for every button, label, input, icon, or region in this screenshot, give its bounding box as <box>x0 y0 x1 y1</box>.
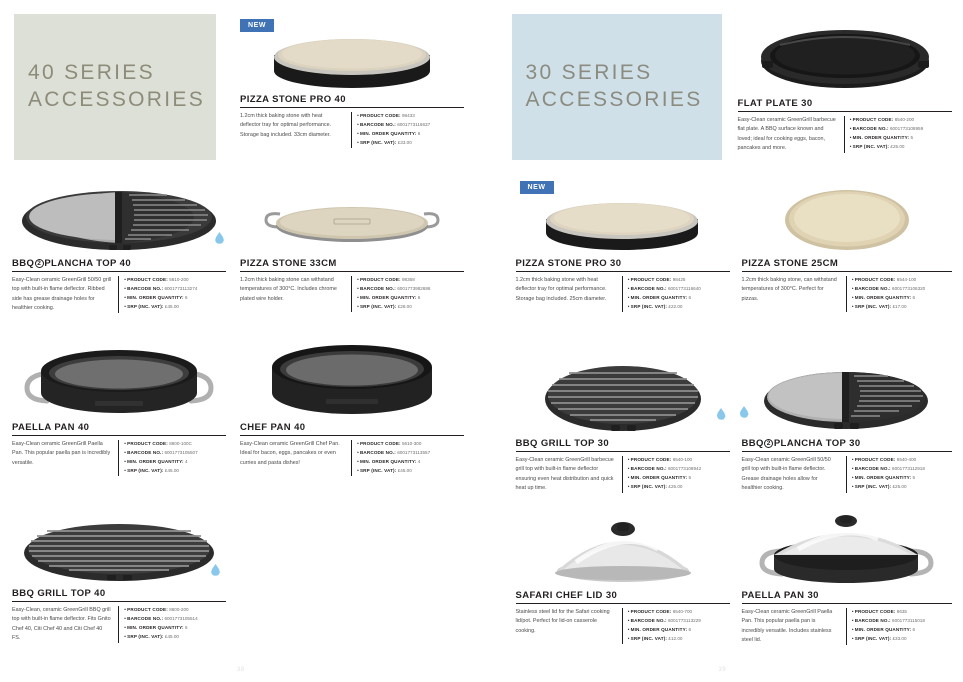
spec-label-barcode: BARCODE NO.: <box>631 618 667 623</box>
spec-label-moq: MIN. ORDER QUANTITY: <box>360 131 417 136</box>
product-title-post: PLANCHA TOP 40 <box>44 258 131 269</box>
spec-label-barcode: BARCODE NO.: <box>631 466 667 471</box>
spec-value-code: 6540-200 <box>895 117 914 122</box>
page-number-left: 38 <box>0 667 482 673</box>
spec-label-code: PRODUCT CODE: <box>853 117 894 122</box>
product-card-pizza-stone-pro-30[interactable]: NEW PIZZA STONE PRO 30 1.2cm thick bakin… <box>512 176 734 312</box>
product-description: Easy-Clean ceramic GreenGrill 50/50 gril… <box>742 456 839 493</box>
spec-label-code: PRODUCT CODE: <box>360 441 401 446</box>
spec-label-code: PRODUCT CODE: <box>631 277 672 282</box>
product-title: BBQ2PLANCHA TOP 30 <box>742 438 952 451</box>
product-specs: • PRODUCT CODE: 6540-100 • BARCODE NO.: … <box>622 456 730 493</box>
spec-value-srp: £28.00 <box>398 304 412 309</box>
spec-value-moq: 6 <box>418 295 421 300</box>
product-image-bbq-grill-top-30 <box>512 352 734 438</box>
spec-label-code: PRODUCT CODE: <box>631 457 672 462</box>
hero-title-line1: 40 SERIES <box>28 60 155 87</box>
product-description: Easy-Clean ceramic GreenGrill barbecue f… <box>738 116 837 153</box>
catalog-page-right: 30 SERIES ACCESSORIES FLAT PLATE 30 <box>482 0 963 682</box>
droplet-icon <box>740 406 749 418</box>
product-specs: • PRODUCT CODE: 5610-300 • BARCODE NO.: … <box>351 440 464 476</box>
spec-value-srp: £25.00 <box>892 484 906 489</box>
spec-value-moq: 5 <box>910 135 913 140</box>
product-title: PIZZA STONE 33CM <box>240 258 464 271</box>
spec-label-code: PRODUCT CODE: <box>855 457 896 462</box>
spec-label-moq: MIN. ORDER QUANTITY: <box>631 295 688 300</box>
hero-banner-30-series: 30 SERIES ACCESSORIES <box>512 14 722 160</box>
spec-label-barcode: BARCODE NO.: <box>853 126 889 131</box>
product-specs: • PRODUCT CODE: 6540-200 • BARCODE NO.: … <box>844 116 952 153</box>
spec-value-moq: 6 <box>688 295 691 300</box>
spec-label-code: PRODUCT CODE: <box>855 609 896 614</box>
spec-label-moq: MIN. ORDER QUANTITY: <box>631 627 688 632</box>
product-title: PIZZA STONE 25CM <box>742 258 952 271</box>
product-specs: • PRODUCT CODE: 98433 • BARCODE NO.: 600… <box>351 112 464 148</box>
spec-label-srp: SRP (INC. VAT): <box>127 634 163 639</box>
spec-value-code: 6540-700 <box>673 609 692 614</box>
spec-label-barcode: BARCODE NO.: <box>127 286 163 291</box>
spec-value-barcode: 6001773115018 <box>892 618 925 623</box>
spec-label-srp: SRP (INC. VAT): <box>853 144 889 149</box>
product-description: Stainless steel lid for the Safari cooki… <box>516 608 615 644</box>
circled-two-icon: 2 <box>35 259 44 268</box>
product-card-bbq-grill-top-40[interactable]: BBQ GRILL TOP 40 Easy-Clean, ceramic Gre… <box>8 508 230 643</box>
product-title: PAELLA PAN 40 <box>12 422 226 435</box>
spec-label-moq: MIN. ORDER QUANTITY: <box>855 475 912 480</box>
spec-label-srp: SRP (INC. VAT): <box>360 468 396 473</box>
spec-label-barcode: BARCODE NO.: <box>360 450 396 455</box>
circled-two-icon: 2 <box>764 439 773 448</box>
spec-label-srp: SRP (INC. VAT): <box>855 636 891 641</box>
product-image-paella-pan-30 <box>738 506 956 590</box>
spec-value-code: 6540-400 <box>897 457 916 462</box>
product-description: Easy-Clean ceramic GreenGrill 50/50 gril… <box>12 276 111 313</box>
product-card-pizza-stone-pro-40[interactable]: NEW PIZZA STONE PRO 40 1.2cm thick bakin… <box>236 14 468 148</box>
spec-label-barcode: BARCODE NO.: <box>855 466 891 471</box>
product-image-pizza-stone-33 <box>236 176 468 258</box>
spec-label-moq: MIN. ORDER QUANTITY: <box>853 135 910 140</box>
spec-value-barcode: 6001773116637 <box>397 122 430 127</box>
spec-value-code: 5610-200 <box>169 277 188 282</box>
product-card-chef-pan-40[interactable]: CHEF PAN 40 Easy-Clean ceramic GreenGril… <box>236 342 468 476</box>
spec-value-moq: 4 <box>418 459 421 464</box>
spec-value-moq: 6 <box>688 627 691 632</box>
spec-value-barcode: 6001773113229 <box>668 618 701 623</box>
product-title-pre: BBQ <box>742 438 764 449</box>
spec-value-code: 5610-300 <box>402 441 421 446</box>
product-image-flat-plate-30 <box>734 14 956 98</box>
spec-label-barcode: BARCODE NO.: <box>360 286 396 291</box>
spec-value-barcode: 6001773112918 <box>892 466 925 471</box>
spec-label-code: PRODUCT CODE: <box>127 441 168 446</box>
spec-label-srp: SRP (INC. VAT): <box>855 484 891 489</box>
spec-value-moq: 4 <box>185 459 188 464</box>
spec-label-barcode: BARCODE NO.: <box>127 616 163 621</box>
spec-value-code: 98425 <box>673 277 686 282</box>
spec-label-barcode: BARCODE NO.: <box>631 286 667 291</box>
spec-value-moq: 5 <box>688 475 691 480</box>
spec-value-code: 6540-100 <box>673 457 692 462</box>
product-title: BBQ GRILL TOP 30 <box>516 438 730 451</box>
spec-label-moq: MIN. ORDER QUANTITY: <box>855 295 912 300</box>
spec-label-srp: SRP (INC. VAT): <box>127 468 163 473</box>
spec-label-moq: MIN. ORDER QUANTITY: <box>631 475 688 480</box>
product-description: Easy-Clean ceramic GreenGrill barbecue g… <box>516 456 615 493</box>
spec-value-barcode: 6001773106320 <box>892 286 925 291</box>
product-image-chef-pan-40 <box>236 342 468 422</box>
product-specs: • PRODUCT CODE: 6540-700 • BARCODE NO.: … <box>622 608 730 644</box>
product-specs: • PRODUCT CODE: 6540-400 • BARCODE NO.: … <box>846 456 952 493</box>
spec-value-srp: £45.00 <box>165 468 179 473</box>
product-card-paella-pan-40[interactable]: PAELLA PAN 40 Easy-Clean ceramic GreenGr… <box>8 342 230 476</box>
spec-value-code: 98368 <box>402 277 415 282</box>
new-badge: NEW <box>240 19 274 32</box>
product-title: BBQ2PLANCHA TOP 40 <box>12 258 226 271</box>
spec-label-code: PRODUCT CODE: <box>360 277 401 282</box>
spec-label-code: PRODUCT CODE: <box>127 277 168 282</box>
product-image-plancha-top-30 <box>738 352 956 438</box>
spec-value-srp: £33.00 <box>892 636 906 641</box>
spec-label-barcode: BARCODE NO.: <box>127 450 163 455</box>
product-description: 1.2cm thick baking stone with heat defle… <box>240 112 344 148</box>
product-card-pizza-stone-25[interactable]: PIZZA STONE 25CM 1.2cm thick baking ston… <box>738 176 956 312</box>
spec-label-code: PRODUCT CODE: <box>631 609 672 614</box>
spec-label-srp: SRP (INC. VAT): <box>631 636 667 641</box>
product-title: SAFARI CHEF LID 30 <box>516 590 730 603</box>
spec-label-srp: SRP (INC. VAT): <box>360 304 396 309</box>
product-card-flat-plate-30[interactable]: FLAT PLATE 30 Easy-Clean ceramic GreenGr… <box>734 14 956 153</box>
product-title: PIZZA STONE PRO 30 <box>516 258 730 271</box>
spec-label-moq: MIN. ORDER QUANTITY: <box>127 625 184 630</box>
spec-label-srp: SRP (INC. VAT): <box>360 140 396 145</box>
spec-value-srp: £45.00 <box>165 304 179 309</box>
catalog-spread: 40 SERIES ACCESSORIES NEW PIZZA STONE PR… <box>0 0 963 682</box>
spec-label-barcode: BARCODE NO.: <box>855 286 891 291</box>
spec-value-srp: £22.00 <box>668 304 682 309</box>
product-image-safari-chef-lid-30 <box>512 506 734 590</box>
product-description: 1.2cm thick baking stone, can withstand … <box>742 276 839 312</box>
spec-value-srp: £17.00 <box>892 304 906 309</box>
product-title: PIZZA STONE PRO 40 <box>240 94 464 107</box>
product-specs: • PRODUCT CODE: 5610-200 • BARCODE NO.: … <box>118 276 226 313</box>
product-image-pizza-stone-25 <box>738 176 956 258</box>
hero-title-line1: 30 SERIES <box>526 60 653 87</box>
page-number-right: 39 <box>482 667 963 673</box>
product-description: Easy-Clean ceramic GreenGrill Chef Pan. … <box>240 440 344 476</box>
product-image-paella-pan-40 <box>8 342 230 422</box>
spec-label-moq: MIN. ORDER QUANTITY: <box>360 459 417 464</box>
product-specs: • PRODUCT CODE: 98368 • BARCODE NO.: 600… <box>351 276 464 312</box>
spec-value-srp: £33.00 <box>398 140 412 145</box>
product-title-pre: BBQ <box>12 258 34 269</box>
spec-value-moq: 6 <box>913 627 916 632</box>
spec-label-code: PRODUCT CODE: <box>855 277 896 282</box>
spec-value-moq: 6 <box>418 131 421 136</box>
new-badge: NEW <box>520 181 554 194</box>
spec-value-moq: 6 <box>185 625 188 630</box>
spec-value-moq: 6 <box>185 295 188 300</box>
product-specs: • PRODUCT CODE: 6544-100 • BARCODE NO.: … <box>846 276 952 312</box>
product-title: PAELLA PAN 30 <box>742 590 952 603</box>
spec-value-code: 98433 <box>402 113 415 118</box>
product-card-pizza-stone-33[interactable]: PIZZA STONE 33CM 1.2cm thick baking ston… <box>236 176 468 312</box>
spec-value-srp: £25.00 <box>668 484 682 489</box>
spec-label-moq: MIN. ORDER QUANTITY: <box>127 295 184 300</box>
spec-label-barcode: BARCODE NO.: <box>855 618 891 623</box>
spec-label-srp: SRP (INC. VAT): <box>631 304 667 309</box>
spec-value-srp: £45.00 <box>165 634 179 639</box>
hero-title-line2: ACCESSORIES <box>28 87 205 114</box>
spec-value-moq: 5 <box>913 475 916 480</box>
spec-value-code: 8635 <box>897 609 907 614</box>
product-title: BBQ GRILL TOP 40 <box>12 588 226 601</box>
spec-label-code: PRODUCT CODE: <box>360 113 401 118</box>
product-description: Easy-Clean ceramic GreenGrill Paella Pan… <box>742 608 839 645</box>
product-title-post: PLANCHA TOP 30 <box>774 438 861 449</box>
spec-value-barcode: 6001773982686 <box>397 286 430 291</box>
spec-label-srp: SRP (INC. VAT): <box>855 304 891 309</box>
droplet-icon <box>717 408 726 420</box>
spec-value-barcode: 6001773113274 <box>164 286 197 291</box>
product-specs: • PRODUCT CODE: 8600-200 • BARCODE NO.: … <box>118 606 226 643</box>
product-description: Easy-Clean ceramic GreenGrill Paella Pan… <box>12 440 111 476</box>
spec-value-barcode: 6001773105514 <box>164 616 197 621</box>
spec-label-moq: MIN. ORDER QUANTITY: <box>360 295 417 300</box>
spec-value-moq: 6 <box>913 295 916 300</box>
product-description: 1.2cm thick baking stone can withstand t… <box>240 276 344 312</box>
hero-title-line2: ACCESSORIES <box>526 87 703 114</box>
product-image-bbq-grill-top-40 <box>8 508 230 588</box>
product-card-bbq-grill-top-30[interactable]: BBQ GRILL TOP 30 Easy-Clean ceramic Gree… <box>512 352 734 493</box>
hero-banner-40-series: 40 SERIES ACCESSORIES <box>14 14 216 160</box>
spec-label-barcode: BARCODE NO.: <box>360 122 396 127</box>
spec-value-barcode: 6001773105507 <box>164 450 197 455</box>
spec-value-barcode: 6001773108942 <box>668 466 701 471</box>
spec-value-code: 6544-100 <box>897 277 916 282</box>
spec-value-barcode: 6001773116640 <box>668 286 701 291</box>
spec-label-srp: SRP (INC. VAT): <box>631 484 667 489</box>
spec-label-srp: SRP (INC. VAT): <box>127 304 163 309</box>
product-card-plancha-top-30[interactable]: BBQ2PLANCHA TOP 30 Easy-Clean ceramic Gr… <box>738 352 956 493</box>
product-image-plancha-top-40 <box>8 176 230 258</box>
spec-value-srp: £12.00 <box>668 636 682 641</box>
product-card-paella-pan-30[interactable]: PAELLA PAN 30 Easy-Clean ceramic GreenGr… <box>738 506 956 645</box>
product-specs: • PRODUCT CODE: 8600-100C • BARCODE NO.:… <box>118 440 226 476</box>
spec-value-srp: £45.00 <box>398 468 412 473</box>
product-card-safari-chef-lid-30[interactable]: SAFARI CHEF LID 30 Stainless steel lid f… <box>512 506 734 644</box>
spec-value-code: 8600-100C <box>169 441 192 446</box>
spec-label-code: PRODUCT CODE: <box>127 607 168 612</box>
spec-value-barcode: 6001773108959 <box>890 126 923 131</box>
spec-label-moq: MIN. ORDER QUANTITY: <box>127 459 184 464</box>
catalog-page-left: 40 SERIES ACCESSORIES NEW PIZZA STONE PR… <box>0 0 482 682</box>
spec-value-code: 8600-200 <box>169 607 188 612</box>
product-title: FLAT PLATE 30 <box>738 98 952 111</box>
product-specs: • PRODUCT CODE: 8635 • BARCODE NO.: 6001… <box>846 608 952 645</box>
product-card-plancha-top-40[interactable]: BBQ2PLANCHA TOP 40 Easy-Clean ceramic Gr… <box>8 176 230 313</box>
spec-label-moq: MIN. ORDER QUANTITY: <box>855 627 912 632</box>
product-description: 1.2cm thick baking stone with heat defle… <box>516 276 615 312</box>
product-specs: • PRODUCT CODE: 98425 • BARCODE NO.: 600… <box>622 276 730 312</box>
product-title: CHEF PAN 40 <box>240 422 464 435</box>
spec-value-srp: £25.00 <box>890 144 904 149</box>
product-description: Easy-Clean, ceramic GreenGrill BBQ grill… <box>12 606 111 643</box>
spec-value-barcode: 6001773113557 <box>397 450 430 455</box>
